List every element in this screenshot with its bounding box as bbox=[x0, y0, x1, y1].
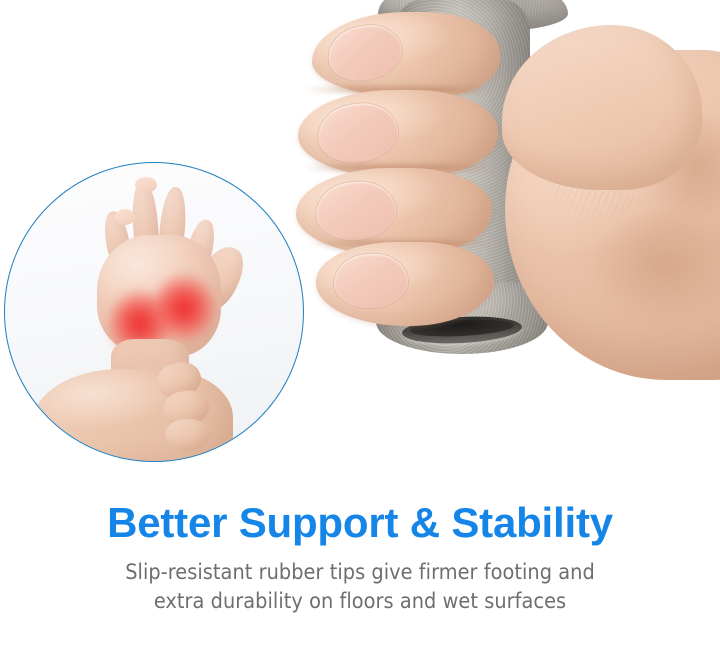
product-photo-area bbox=[0, 0, 720, 492]
subtitle: Slip-resistant rubber tips give firmer f… bbox=[80, 558, 640, 616]
pain-highlight-spot bbox=[153, 275, 215, 341]
marketing-text-block: Better Support & Stability Slip-resistan… bbox=[0, 492, 720, 616]
inset-fingertip bbox=[135, 177, 157, 193]
thumb-web-bulge bbox=[502, 25, 702, 190]
product-feature-banner: Better Support & Stability Slip-resistan… bbox=[0, 0, 720, 670]
inset-fingertip bbox=[115, 209, 135, 225]
subtitle-line-2: extra durability on floors and wet surfa… bbox=[80, 587, 640, 616]
headline: Better Support & Stability bbox=[0, 492, 720, 548]
wrist-pain-inset-circle bbox=[4, 162, 304, 462]
hand-gripping-handle-photo bbox=[290, 0, 720, 410]
subtitle-line-1: Slip-resistant rubber tips give firmer f… bbox=[80, 558, 640, 587]
